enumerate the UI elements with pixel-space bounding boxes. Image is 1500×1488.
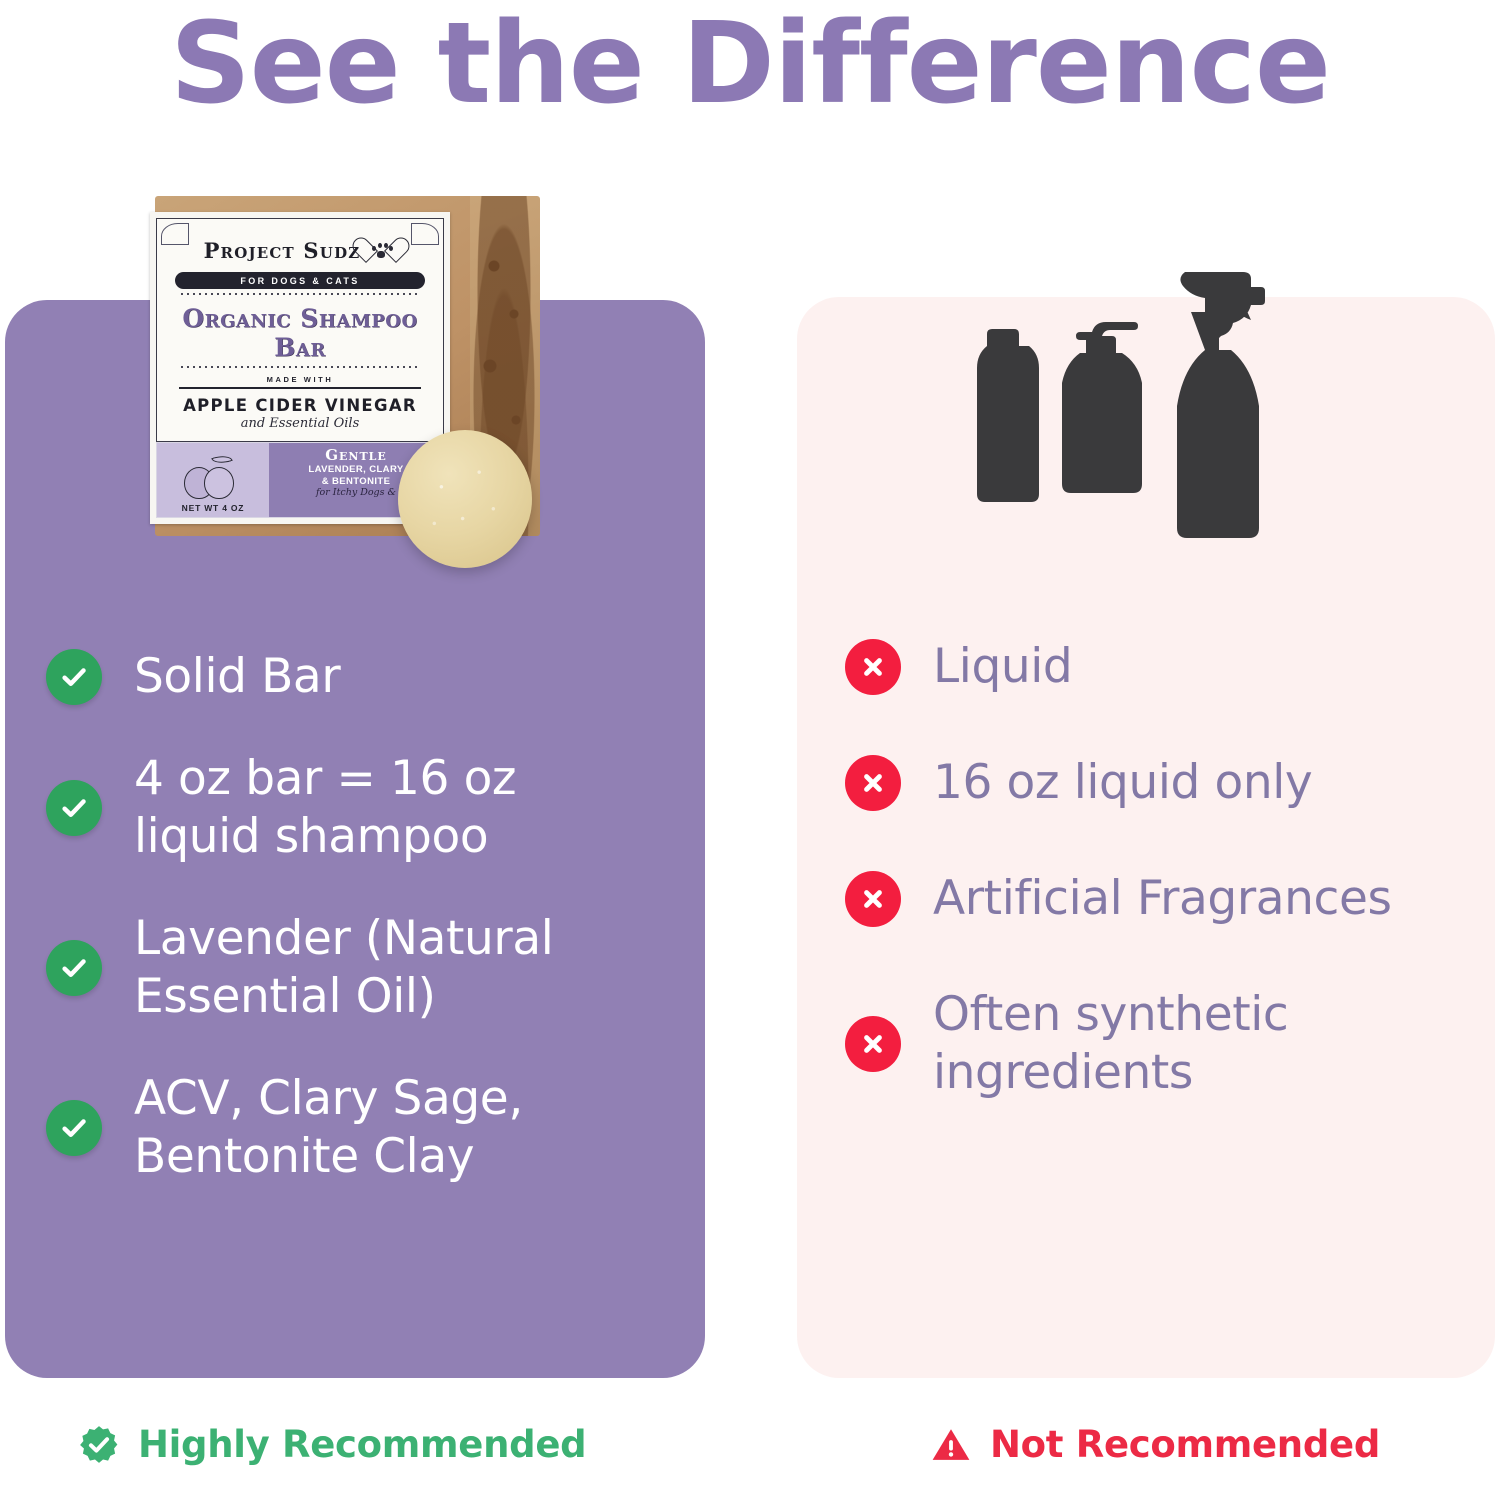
good-feature-list: Solid Bar 4 oz bar = 16 oz liquid shampo… — [46, 648, 676, 1230]
apple-illustration-icon — [182, 455, 244, 501]
paw-heart-icon — [366, 237, 396, 264]
apple-cell: NET WT 4 OZ — [157, 443, 269, 517]
made-with-label: MADE WITH — [157, 375, 443, 384]
list-item: Liquid — [845, 638, 1465, 696]
bad-item-label: 16 oz liquid only — [933, 754, 1312, 812]
not-recommended-badge: Not Recommended — [930, 1423, 1380, 1466]
dot-divider-bottom — [179, 366, 421, 368]
cross-circle-icon — [845, 871, 901, 927]
net-weight: NET WT 4 OZ — [182, 503, 245, 513]
secondary-ingredient: and Essential Oils — [157, 416, 443, 431]
cross-circle-icon — [845, 639, 901, 695]
cross-circle-icon — [845, 755, 901, 811]
audience-banner: FOR DOGS & CATS — [175, 272, 425, 289]
bad-item-label: Liquid — [933, 638, 1072, 696]
list-item: Often synthetic ingredients — [845, 986, 1465, 1102]
brand-row: Project Sudz — [157, 237, 443, 264]
good-item-label: 4 oz bar = 16 oz liquid shampoo — [134, 750, 516, 866]
competitor-bottles-image — [955, 250, 1285, 550]
good-item-label: Solid Bar — [134, 648, 340, 706]
product-label-upper: Project Sudz FOR DOGS & CATS Organic Sha… — [156, 218, 444, 442]
plain-bottle-icon — [977, 329, 1039, 502]
pump-bottle-icon — [1062, 322, 1142, 493]
brand-name: Project Sudz — [204, 238, 361, 263]
list-item: 16 oz liquid only — [845, 754, 1465, 812]
list-item: 4 oz bar = 16 oz liquid shampoo — [46, 750, 676, 866]
cross-circle-icon — [845, 1016, 901, 1072]
check-circle-icon — [46, 649, 102, 705]
good-item-label: ACV, Clary Sage, Bentonite Clay — [134, 1070, 523, 1186]
spray-bottle-icon — [1177, 272, 1265, 538]
good-item-label: Lavender (Natural Essential Oil) — [134, 910, 553, 1026]
check-circle-icon — [46, 940, 102, 996]
product-name: Organic Shampoo Bar — [157, 304, 443, 362]
infographic-canvas: See the Difference Project Sudz — [0, 0, 1500, 1488]
badge-check-icon — [78, 1424, 120, 1466]
not-recommended-label: Not Recommended — [990, 1423, 1380, 1466]
list-item: Lavender (Natural Essential Oil) — [46, 910, 676, 1026]
list-item: ACV, Clary Sage, Bentonite Clay — [46, 1070, 676, 1186]
list-item: Artificial Fragrances — [845, 870, 1465, 928]
check-circle-icon — [46, 1100, 102, 1156]
check-circle-icon — [46, 780, 102, 836]
page-title: See the Difference — [0, 4, 1500, 124]
bad-item-label: Often synthetic ingredients — [933, 986, 1288, 1102]
product-package-image: Project Sudz FOR DOGS & CATS Organic Sha… — [150, 188, 540, 578]
highly-recommended-badge: Highly Recommended — [78, 1423, 586, 1466]
main-ingredient: APPLE CIDER VINEGAR — [157, 396, 443, 415]
bad-item-label: Artificial Fragrances — [933, 870, 1392, 928]
bad-feature-list: Liquid 16 oz liquid only Artificial Frag… — [845, 638, 1465, 1160]
dot-divider-top — [179, 293, 421, 295]
warning-triangle-icon — [930, 1424, 972, 1466]
made-with-rule — [179, 387, 421, 389]
soap-bar-icon — [398, 430, 532, 568]
highly-recommended-label: Highly Recommended — [138, 1423, 586, 1466]
list-item: Solid Bar — [46, 648, 676, 706]
